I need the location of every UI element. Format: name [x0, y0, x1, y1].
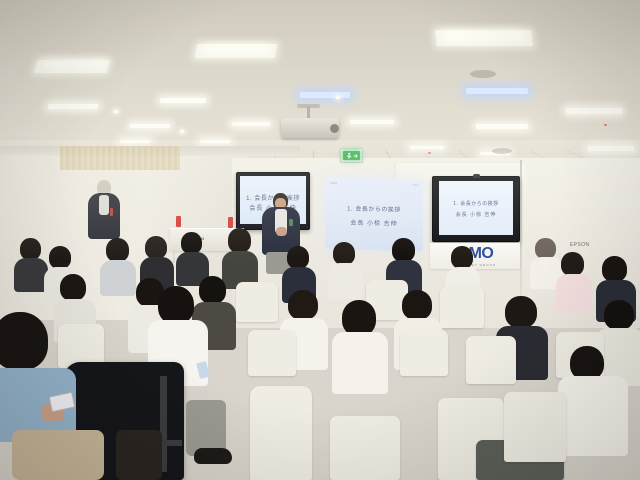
ceiling-light — [565, 108, 622, 114]
presenter-hands — [276, 227, 287, 236]
ceiling-light — [466, 88, 529, 94]
person-head — [106, 238, 129, 262]
person-torso — [332, 332, 388, 394]
slide-title: 1. 会長からの挨拶 — [439, 200, 513, 207]
table-red-item — [176, 216, 181, 227]
person-torso — [556, 274, 592, 312]
ceiling-light — [350, 120, 394, 124]
ceiling-spotlight — [336, 96, 340, 99]
chair — [400, 330, 448, 376]
person-legs — [116, 430, 162, 480]
person-torso — [14, 258, 48, 292]
ceiling-light — [200, 140, 230, 143]
smoke-detector-led — [604, 124, 607, 126]
ceiling-spotlight — [114, 110, 118, 113]
ceiling-light — [47, 104, 98, 109]
ceiling-spotlight — [180, 130, 184, 133]
slide-title: 1. 会長からの挨拶 — [325, 203, 423, 214]
wall-corner-edge — [520, 160, 522, 310]
ceiling-light — [160, 98, 207, 103]
person-head — [602, 256, 627, 282]
monitor-right: 1. 会長からの挨拶 会長 小椋 吉伸 — [432, 176, 520, 242]
ceiling-light — [410, 146, 444, 149]
projector-brand-label: EPSON — [570, 242, 590, 248]
table-red-item — [228, 217, 233, 228]
projector-lens-icon — [330, 124, 339, 133]
person-head — [535, 238, 556, 259]
chair — [466, 336, 516, 384]
ceiling-light — [232, 122, 270, 126]
emergency-exit-sign — [340, 148, 363, 163]
person-badge — [110, 208, 113, 216]
person-head — [20, 238, 41, 260]
chair — [236, 282, 278, 322]
person-torso — [100, 260, 136, 296]
person-head — [570, 346, 604, 380]
person-torso — [328, 263, 362, 299]
person-head — [561, 252, 584, 276]
ceiling-light — [130, 124, 171, 128]
person-head — [228, 228, 251, 253]
person-head — [505, 296, 537, 328]
slide-corner-left: GMO — [330, 181, 337, 185]
person-head — [287, 246, 309, 269]
ceiling-light — [446, 33, 523, 38]
person-shirt — [99, 195, 109, 215]
monitor-right-screen: 1. 会長からの挨拶 会長 小椋 吉伸 — [439, 181, 513, 235]
chair — [440, 286, 484, 328]
ceiling-light — [588, 146, 635, 151]
monitor-camera-icon — [473, 174, 480, 178]
seminar-room-photo: EPSON 1. 会長からの挨拶 会長 小椋 吉伸 GMO 1/12 1. 会長… — [0, 0, 640, 480]
person-head — [60, 274, 86, 301]
ceiling-light — [120, 140, 151, 143]
gmo-brand-sign: GMO INTERNET GROUP — [430, 243, 520, 269]
person-head — [402, 290, 432, 320]
ceiling-vent — [492, 148, 512, 154]
person-head — [145, 236, 167, 259]
person-head — [333, 242, 355, 265]
ceiling-light — [206, 47, 269, 51]
person-trousers — [12, 430, 104, 480]
running-man-exit-icon — [343, 151, 360, 160]
chair — [250, 386, 312, 480]
presenter-badge — [289, 219, 293, 226]
person-head — [0, 312, 48, 370]
chair — [504, 392, 566, 462]
ceiling-light — [45, 62, 104, 66]
chair — [248, 330, 296, 376]
ceiling-light — [300, 92, 350, 98]
person-torso — [558, 376, 628, 456]
ceiling-light — [476, 124, 529, 129]
person-head — [181, 232, 202, 254]
person-head — [604, 300, 634, 330]
person-head — [342, 300, 376, 336]
slide-subtitle: 会長 小椋 吉伸 — [325, 217, 423, 228]
person-head — [392, 238, 415, 262]
person-head — [288, 290, 318, 320]
smoke-detector-led — [428, 152, 431, 154]
person-head — [199, 276, 226, 304]
person-shoe — [194, 448, 232, 464]
slide-corner-right: 1/12 — [412, 183, 418, 187]
person-head — [49, 246, 71, 269]
slide-subtitle: 会長 小椋 吉伸 — [439, 211, 513, 218]
table-leg — [173, 249, 175, 263]
window-curtain — [60, 146, 180, 170]
person-head — [158, 286, 194, 324]
ceiling-vent — [470, 70, 496, 78]
chair — [330, 416, 400, 480]
person-head — [451, 246, 473, 269]
